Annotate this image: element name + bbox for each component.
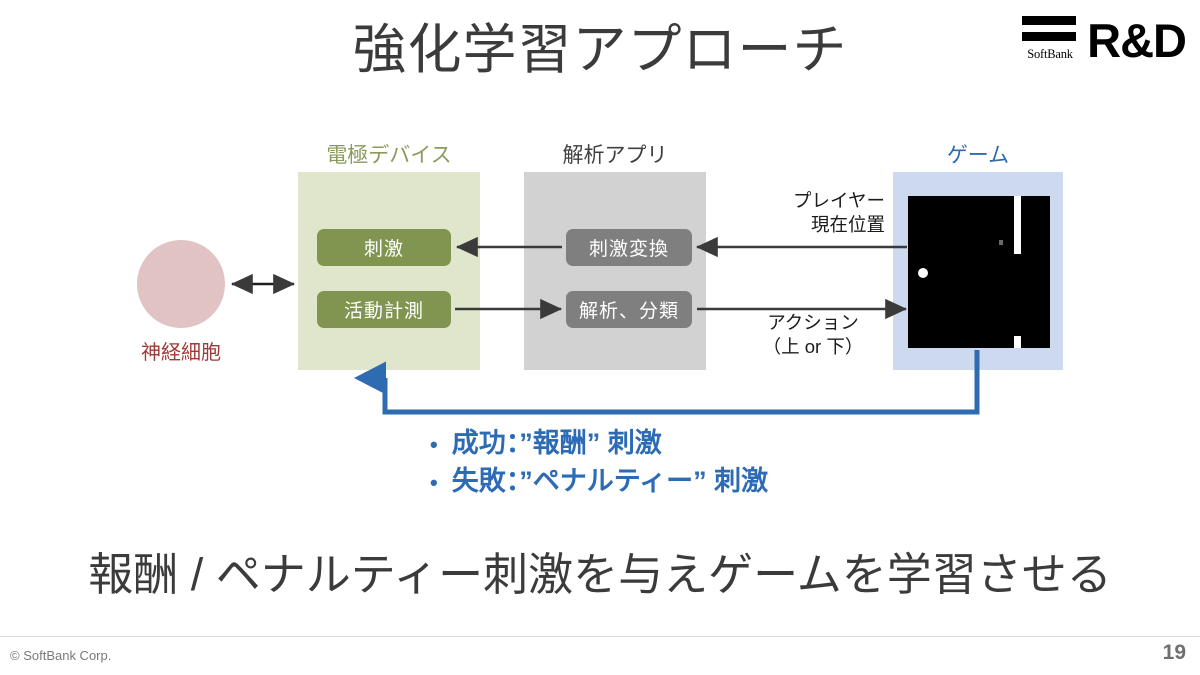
logo-bar-top [1022,16,1076,25]
slide-root: 強化学習アプローチ SoftBank R&D 電極デバイス 解析アプリ ゲーム … [0,0,1200,675]
game-ball [918,268,928,278]
box-conversion: 刺激変換 [566,229,692,266]
panel-label-electrode: 電極デバイス [298,139,480,169]
caption-action-line2: （上 or 下） [738,335,888,359]
game-speck [999,240,1003,245]
caption-action: アクション （上 or 下） [738,311,888,358]
list-item: • 失敗：”ペナルティー” 刺激 [430,462,990,500]
game-paddle-upper [1014,196,1021,254]
bullet-marker: • [430,434,438,456]
headline-summary: 報酬 / ペナルティー刺激を与えゲームを学習させる [0,538,1200,603]
box-analysis: 解析、分類 [566,291,692,328]
panel-label-game: ゲーム [893,139,1063,169]
footer-page-number: 19 [1163,641,1186,665]
caption-player-line2: 現在位置 [745,213,885,237]
box-measurement: 活動計測 [317,291,451,328]
caption-player-position: プレイヤー 現在位置 [745,189,885,236]
caption-player-line1: プレイヤー [745,189,885,213]
footer-divider [0,636,1200,637]
list-item: • 成功：”報酬” 刺激 [430,424,990,462]
softbank-rd-logo: SoftBank R&D [1018,8,1186,66]
caption-action-line1: アクション [738,311,888,335]
neuron-circle [137,240,225,328]
bullet-marker: • [430,472,438,494]
panel-label-app: 解析アプリ [524,139,706,169]
panel-electrode [298,172,480,370]
bullet-text: 失敗：”ペナルティー” 刺激 [452,462,768,500]
footer-copyright: © SoftBank Corp. [10,648,111,663]
bullet-text: 成功：”報酬” 刺激 [452,424,662,462]
game-paddle-lower [1014,336,1021,348]
panel-app [524,172,706,370]
logo-unit-text: R&D [1087,19,1186,66]
game-screen [908,196,1050,348]
neuron-label: 神経細胞 [113,336,249,365]
bullet-list: • 成功：”報酬” 刺激 • 失敗：”ペナルティー” 刺激 [430,424,990,501]
box-stimulus: 刺激 [317,229,451,266]
softbank-equals-icon: SoftBank [1018,12,1079,66]
logo-bar-bottom [1022,32,1076,41]
logo-brand-text: SoftBank [1020,47,1080,62]
